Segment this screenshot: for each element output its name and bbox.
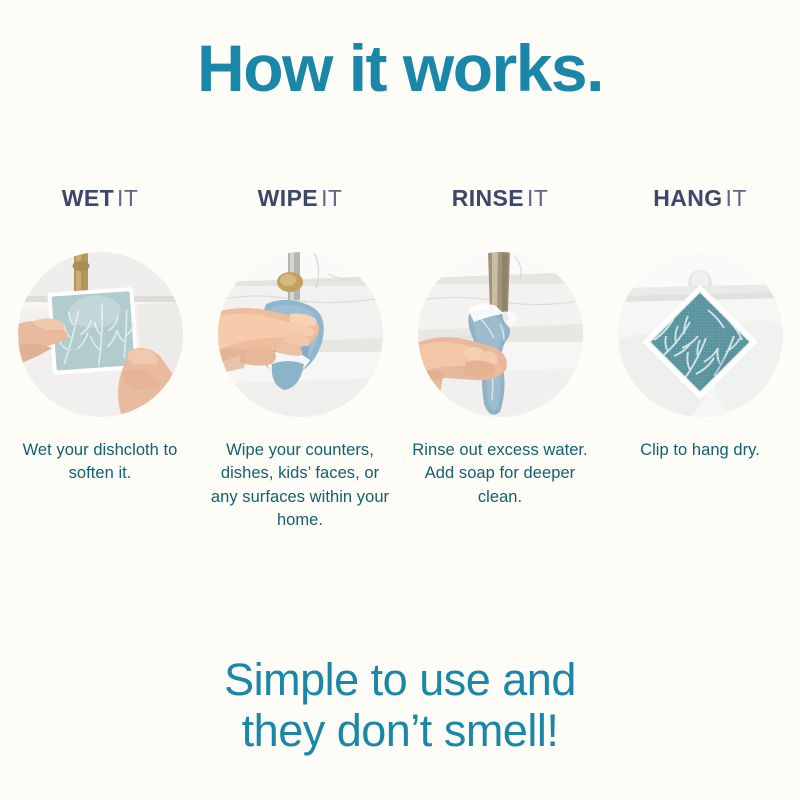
step-hang: HANGIT bbox=[600, 186, 800, 462]
step-label-wipe: WIPEIT bbox=[258, 186, 343, 216]
photo-hang-cloth-on-hook bbox=[618, 252, 783, 417]
step-caption: Wipe your counters, dishes, kids’ faces,… bbox=[207, 439, 393, 533]
step-label-wet: WETIT bbox=[62, 186, 139, 216]
step-rinse: RINSEIT bbox=[400, 186, 600, 509]
step-label-rinse: RINSEIT bbox=[452, 186, 549, 216]
tagline-line-2: they don’t smell! bbox=[0, 706, 800, 757]
step-caption: Clip to hang dry. bbox=[607, 439, 793, 462]
step-keyword: WIPE bbox=[258, 185, 318, 211]
step-caption: Wet your dishcloth to soften it. bbox=[7, 439, 193, 486]
step-wipe: WIPEIT bbox=[200, 186, 400, 533]
photo-wipe-counter bbox=[218, 252, 383, 417]
step-suffix: IT bbox=[321, 185, 342, 211]
tagline-line-1: Simple to use and bbox=[224, 654, 576, 705]
step-suffix: IT bbox=[527, 185, 548, 211]
footer-tagline: Simple to use and they don’t smell! bbox=[0, 655, 800, 757]
photo-rinse-wringing-cloth bbox=[418, 252, 583, 417]
step-keyword: HANG bbox=[653, 185, 722, 211]
page-title: How it works. bbox=[0, 34, 800, 103]
step-suffix: IT bbox=[117, 185, 138, 211]
photo-wet-dishcloth-under-faucet bbox=[18, 252, 183, 417]
steps-row: WETIT bbox=[0, 186, 800, 533]
step-wet: WETIT bbox=[0, 186, 200, 486]
step-caption: Rinse out excess water. Add soap for dee… bbox=[407, 439, 593, 509]
step-keyword: RINSE bbox=[452, 185, 524, 211]
step-suffix: IT bbox=[726, 185, 747, 211]
step-label-hang: HANGIT bbox=[653, 186, 747, 216]
step-keyword: WET bbox=[62, 185, 114, 211]
